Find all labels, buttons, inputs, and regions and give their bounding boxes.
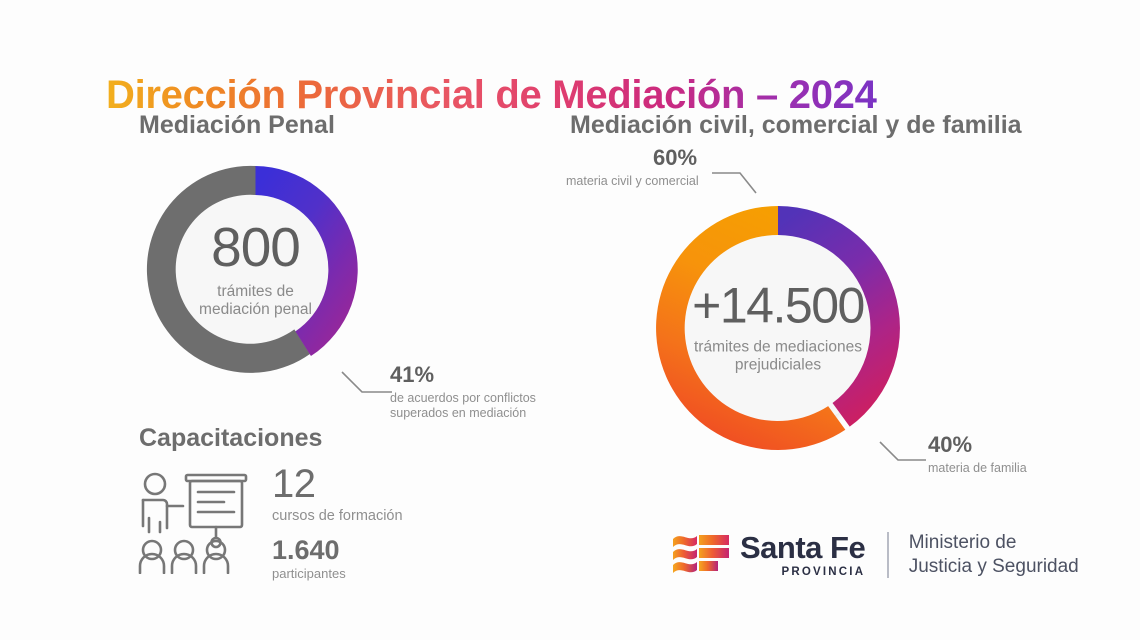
participantes-value: 1.640 (272, 537, 403, 564)
section-heading-civil: Mediación civil, comercial y de familia (570, 111, 1022, 140)
ministry-name: Ministerio de Justicia y Seguridad (909, 531, 1079, 580)
donut-chart-penal: 800 trámites de mediación penal (133, 147, 378, 392)
callout-41-description: de acuerdos por conflictos superados en … (390, 391, 536, 421)
santa-fe-flag-icon (672, 532, 730, 578)
cursos-value: 12 (272, 464, 403, 504)
footer-logo-block: Santa Fe PROVINCIA Ministerio de Justici… (672, 531, 1079, 580)
leader-line-60 (710, 165, 760, 197)
callout-40-description: materia de familia (928, 461, 1027, 476)
cursos-label: cursos de formación (272, 508, 403, 525)
training-presentation-icon (138, 466, 254, 574)
section-heading-penal: Mediación Penal (139, 111, 335, 140)
callout-60-value: 60% (653, 147, 699, 169)
leader-line-40 (878, 440, 930, 470)
section-heading-capacitaciones: Capacitaciones (139, 424, 322, 453)
callout-40-value: 40% (928, 434, 1027, 456)
callout-60-percent: 60% materia civil y comercial (566, 147, 699, 189)
logo-subtitle: PROVINCIA (782, 566, 866, 578)
infographic-page: Dirección Provincial de Mediación – 2024… (0, 0, 1140, 640)
leader-line-41 (340, 370, 396, 404)
capacitaciones-stats: 12 cursos de formación 1.640 participant… (272, 464, 403, 582)
santa-fe-wordmark: Santa Fe PROVINCIA (740, 533, 865, 578)
capacitaciones-stat-participantes: 1.640 participantes (272, 537, 403, 582)
callout-41-percent: 41% de acuerdos por conflictos superados… (390, 364, 536, 421)
donut-civil-svg (633, 183, 923, 473)
callout-40-percent: 40% materia de familia (928, 434, 1027, 476)
donut-chart-civil: +14.500 trámites de mediaciones prejudic… (633, 183, 923, 473)
logo-divider (887, 532, 889, 578)
logo-name: Santa Fe (740, 533, 865, 563)
capacitaciones-stat-cursos: 12 cursos de formación (272, 464, 403, 525)
donut-penal-svg (133, 147, 378, 392)
callout-60-description: materia civil y comercial (566, 174, 699, 189)
callout-41-value: 41% (390, 364, 536, 386)
participantes-label: participantes (272, 566, 403, 582)
